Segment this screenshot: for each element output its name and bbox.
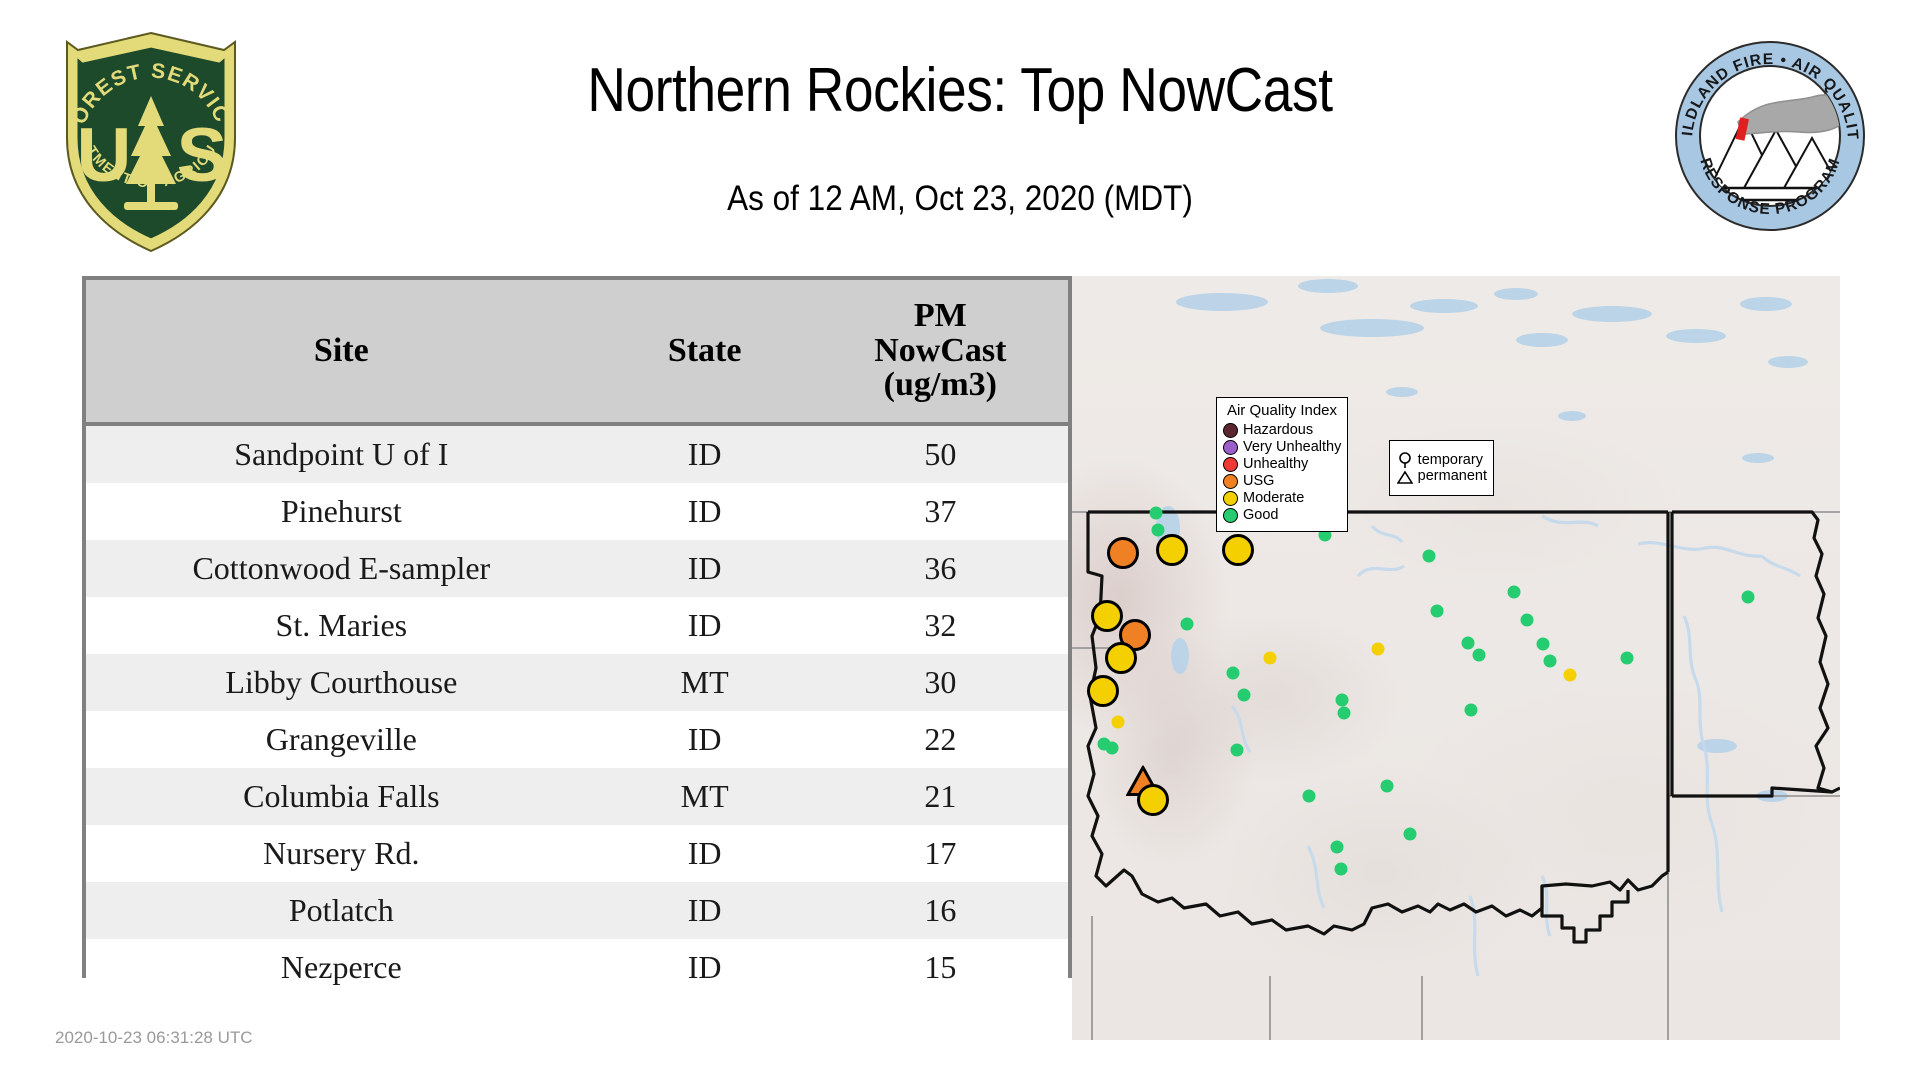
aqi-legend-label: Very Unhealthy [1243, 440, 1341, 455]
monitor-marker-temporary[interactable] [1563, 668, 1576, 681]
monitor-dot-layer[interactable] [1072, 276, 1840, 1040]
column-header-pm-line2: NowCast [817, 334, 1064, 369]
monitor-marker-temporary[interactable] [1741, 590, 1754, 603]
aqi-legend-item: USG [1223, 473, 1341, 490]
site-name: Grangeville [86, 711, 597, 768]
site-state: ID [597, 711, 813, 768]
site-name: Columbia Falls [86, 768, 597, 825]
site-name: Pinehurst [86, 483, 597, 540]
site-pm-nowcast-value: 15 [813, 939, 1068, 996]
table-row: PotlatchID16 [86, 882, 1068, 939]
monitor-marker-temporary[interactable] [1403, 827, 1416, 840]
monitor-marker-temporary[interactable] [1264, 652, 1277, 665]
monitor-marker-temporary[interactable] [1156, 534, 1188, 566]
table-row: Nursery Rd.ID17 [86, 825, 1068, 882]
table-row: Libby CourthouseMT30 [86, 654, 1068, 711]
site-type-temporary-label: temporary [1418, 452, 1487, 468]
aqi-legend-item: Moderate [1223, 490, 1341, 507]
site-state: ID [597, 882, 813, 939]
site-type-permanent-label: permanent [1418, 468, 1487, 484]
monitor-marker-temporary[interactable] [1137, 784, 1169, 816]
site-name: St. Maries [86, 597, 597, 654]
aqi-legend-swatch-icon [1223, 440, 1238, 455]
aqi-legend-label: USG [1243, 474, 1274, 489]
site-state: MT [597, 654, 813, 711]
site-pm-nowcast-value: 17 [813, 825, 1068, 882]
site-pm-nowcast-value: 50 [813, 424, 1068, 483]
site-pm-nowcast-value: 36 [813, 540, 1068, 597]
table-row: Sandpoint U of IID50 [86, 424, 1068, 483]
aqi-legend-item: Unhealthy [1223, 456, 1341, 473]
monitor-marker-temporary[interactable] [1150, 506, 1163, 519]
monitor-marker-temporary[interactable] [1222, 534, 1254, 566]
monitor-marker-temporary[interactable] [1423, 550, 1436, 563]
site-state: ID [597, 825, 813, 882]
wildland-fire-air-quality-response-program-icon: WILDLAND FIRE • AIR QUALITY RESPONSE PRO… [1672, 38, 1868, 234]
column-header-state: State [597, 280, 813, 424]
monitor-marker-temporary[interactable] [1520, 613, 1533, 626]
monitor-marker-temporary[interactable] [1430, 604, 1443, 617]
top-nowcast-table: Site State PM NowCast (ug/m3) Sandpoint … [82, 276, 1072, 978]
site-state: ID [597, 939, 813, 996]
monitor-marker-temporary[interactable] [1227, 667, 1240, 680]
aqi-legend-swatch-icon [1223, 491, 1238, 506]
site-state: ID [597, 597, 813, 654]
monitor-marker-temporary[interactable] [1337, 707, 1350, 720]
monitor-marker-temporary[interactable] [1465, 703, 1478, 716]
column-header-site: Site [86, 280, 597, 424]
aqi-legend-swatch-icon [1223, 423, 1238, 438]
site-state: ID [597, 424, 813, 483]
monitor-marker-temporary[interactable] [1336, 694, 1349, 707]
site-name: Libby Courthouse [86, 654, 597, 711]
table-row: NezperceID15 [86, 939, 1068, 996]
monitor-marker-temporary[interactable] [1334, 862, 1347, 875]
monitor-marker-temporary[interactable] [1087, 675, 1119, 707]
monitor-marker-temporary[interactable] [1461, 636, 1474, 649]
monitor-marker-temporary[interactable] [1544, 655, 1557, 668]
site-pm-nowcast-value: 30 [813, 654, 1068, 711]
aqi-legend-title: Air Quality Index [1223, 403, 1341, 418]
table-row: St. MariesID32 [86, 597, 1068, 654]
monitor-marker-temporary[interactable] [1107, 537, 1139, 569]
site-name: Nursery Rd. [86, 825, 597, 882]
site-pm-nowcast-value: 32 [813, 597, 1068, 654]
aqi-legend-item: Very Unhealthy [1223, 439, 1341, 456]
svg-text:U: U [77, 113, 132, 198]
monitor-marker-temporary[interactable] [1330, 840, 1343, 853]
monitor-marker-temporary[interactable] [1473, 648, 1486, 661]
aqi-legend-item: Hazardous [1223, 422, 1341, 439]
site-state: ID [597, 483, 813, 540]
page-title: Northern Rockies: Top NowCast [418, 58, 1502, 123]
aqi-legend-label: Unhealthy [1243, 457, 1308, 472]
aqi-legend: Air Quality Index HazardousVery Unhealth… [1216, 397, 1348, 532]
monitor-marker-temporary[interactable] [1380, 780, 1393, 793]
table-row: GrangevilleID22 [86, 711, 1068, 768]
generated-timestamp: 2020-10-23 06:31:28 UTC [55, 1028, 253, 1048]
site-name: Nezperce [86, 939, 597, 996]
monitor-marker-temporary[interactable] [1105, 642, 1137, 674]
triangle-outline-icon [1397, 470, 1413, 484]
aqi-legend-swatch-icon [1223, 508, 1238, 523]
site-pm-nowcast-value: 22 [813, 711, 1068, 768]
monitor-marker-temporary[interactable] [1231, 743, 1244, 756]
site-pm-nowcast-value: 37 [813, 483, 1068, 540]
site-state: ID [597, 540, 813, 597]
monitor-marker-temporary[interactable] [1112, 716, 1125, 729]
monitor-marker-temporary[interactable] [1152, 523, 1165, 536]
monitor-marker-temporary[interactable] [1091, 600, 1123, 632]
site-pm-nowcast-value: 16 [813, 882, 1068, 939]
site-name: Cottonwood E-sampler [86, 540, 597, 597]
site-name: Sandpoint U of I [86, 424, 597, 483]
column-header-pm-nowcast: PM NowCast (ug/m3) [813, 280, 1068, 424]
aqi-legend-item: Good [1223, 507, 1341, 524]
site-state: MT [597, 768, 813, 825]
aqi-legend-swatch-icon [1223, 474, 1238, 489]
air-quality-monitor-map[interactable] [1072, 276, 1840, 1040]
monitor-marker-temporary[interactable] [1238, 688, 1251, 701]
monitor-marker-temporary[interactable] [1508, 585, 1521, 598]
aqi-legend-swatch-icon [1223, 457, 1238, 472]
column-header-state-label: State [668, 332, 742, 369]
monitor-marker-temporary[interactable] [1371, 642, 1384, 655]
site-type-legend: temporary permanent [1389, 440, 1494, 496]
aqi-legend-label: Moderate [1243, 491, 1304, 506]
monitor-marker-temporary[interactable] [1181, 617, 1194, 630]
column-header-pm-line3: (ug/m3) [817, 368, 1064, 403]
slide-canvas: FOREST SERVICE DEPARTMENT OF AGRICULTURE… [0, 0, 1920, 1080]
table-row: Cottonwood E-samplerID36 [86, 540, 1068, 597]
monitor-marker-temporary[interactable] [1302, 789, 1315, 802]
column-header-site-label: Site [314, 332, 369, 369]
site-pm-nowcast-value: 21 [813, 768, 1068, 825]
svg-text:S: S [177, 113, 228, 198]
column-header-pm-line1: PM [817, 299, 1064, 334]
aqi-legend-label: Good [1243, 508, 1278, 523]
circle-outline-icon [1397, 452, 1413, 469]
aqi-legend-label: Hazardous [1243, 423, 1313, 438]
monitor-marker-temporary[interactable] [1536, 638, 1549, 651]
table-row: Columbia FallsMT21 [86, 768, 1068, 825]
monitor-marker-temporary[interactable] [1621, 652, 1634, 665]
table-row: PinehurstID37 [86, 483, 1068, 540]
monitor-marker-temporary[interactable] [1105, 742, 1118, 755]
usda-forest-service-shield-icon: FOREST SERVICE DEPARTMENT OF AGRICULTURE… [52, 28, 250, 256]
table-header-row: Site State PM NowCast (ug/m3) [86, 280, 1068, 424]
site-name: Potlatch [86, 882, 597, 939]
page-subtitle-timestamp: As of 12 AM, Oct 23, 2020 (MDT) [393, 180, 1527, 219]
